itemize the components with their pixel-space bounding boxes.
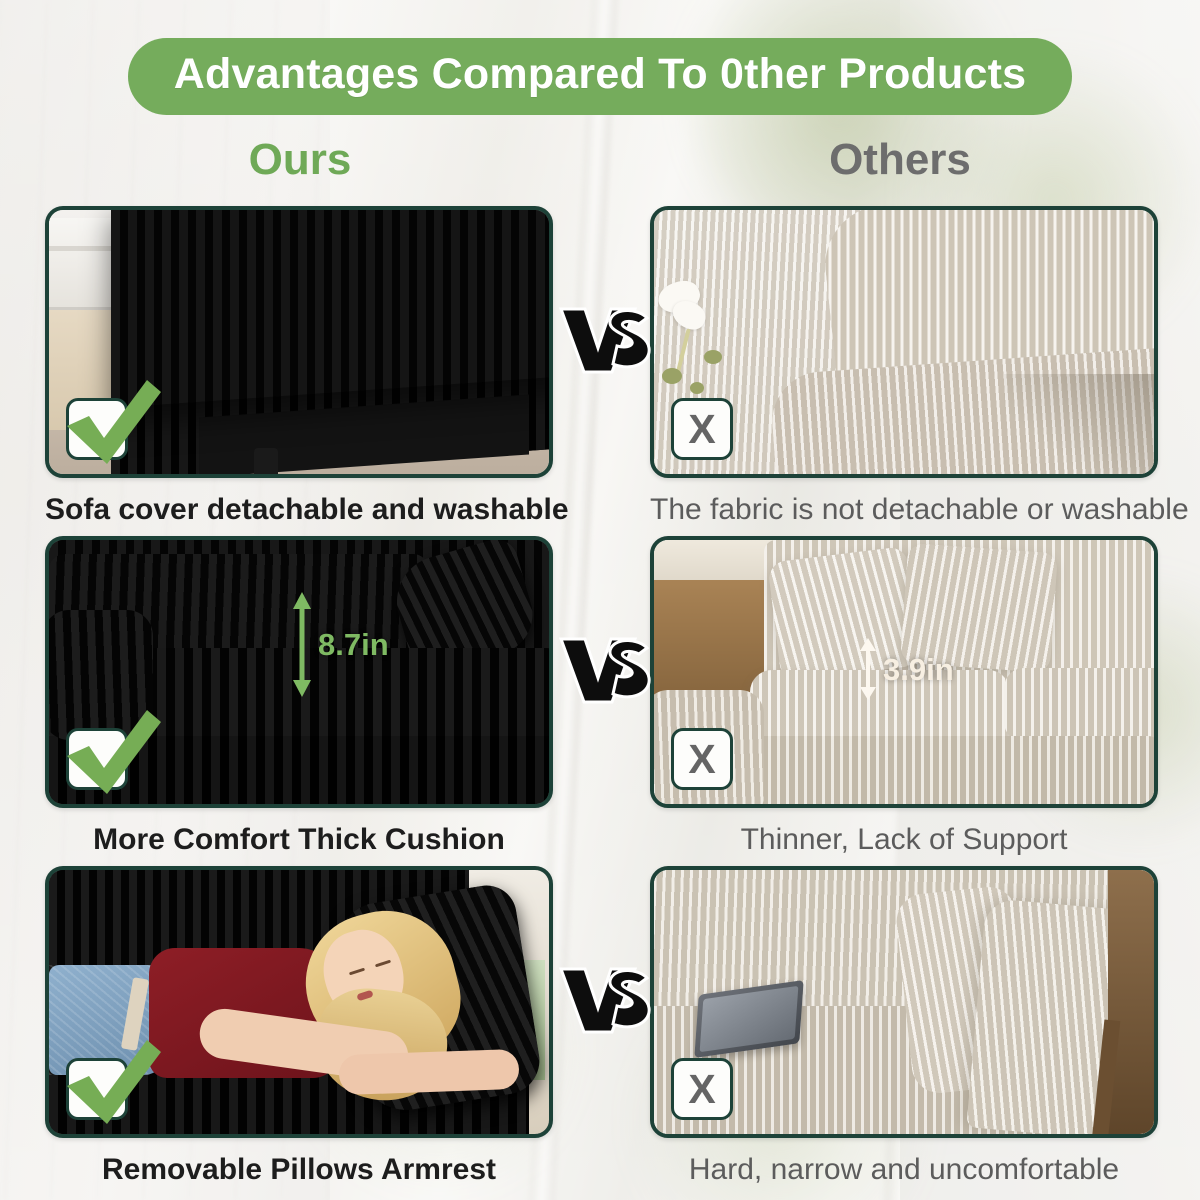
check-badge	[66, 728, 128, 790]
x-icon: X	[674, 401, 730, 457]
others-caption: The fabric is not detachable or washable	[650, 488, 1158, 532]
title-banner: Advantages Compared To 0ther Products	[0, 38, 1200, 115]
others-image-panel: X	[650, 866, 1158, 1138]
x-badge: X	[671, 728, 733, 790]
others-caption: Hard, narrow and uncomfortable	[650, 1148, 1158, 1192]
x-badge: X	[671, 1058, 733, 1120]
ours-image-panel	[45, 206, 553, 478]
others-measurement-value: 3.9in	[883, 654, 954, 685]
others-measurement: 3.9in	[859, 638, 954, 700]
ours-image-panel: 8.7in	[45, 536, 553, 808]
x-icon: X	[674, 1061, 730, 1117]
double-arrow-icon	[292, 592, 312, 697]
column-header-others: Others	[600, 138, 1200, 182]
column-headers: Ours Others	[0, 138, 1200, 200]
column-header-ours: Ours	[0, 138, 600, 182]
ours-measurement: 8.7in	[292, 592, 389, 697]
comparison-row: X Removable Pillows Armrest Hard, narrow…	[0, 866, 1200, 1196]
page-title: Advantages Compared To 0ther Products	[128, 38, 1072, 115]
ours-caption: Sofa cover detachable and washable	[45, 488, 553, 532]
ours-caption: Removable Pillows Armrest	[45, 1148, 553, 1192]
vs-icon	[555, 964, 653, 1036]
x-icon: X	[674, 731, 730, 787]
others-image-panel: X	[650, 206, 1158, 478]
check-badge	[66, 398, 128, 460]
vs-icon	[555, 634, 653, 706]
comparison-rows: X Sofa cover detachable and washable The…	[0, 206, 1200, 1196]
comparison-row: X Sofa cover detachable and washable The…	[0, 206, 1200, 536]
ours-image-panel	[45, 866, 553, 1138]
x-badge: X	[671, 398, 733, 460]
check-badge	[66, 1058, 128, 1120]
others-image-panel: 3.9in X	[650, 536, 1158, 808]
vs-icon	[555, 304, 653, 376]
ours-measurement-value: 8.7in	[318, 629, 389, 660]
comparison-row: 8.7in	[0, 536, 1200, 866]
double-arrow-icon	[859, 638, 877, 700]
ours-caption: More Comfort Thick Cushion	[45, 818, 553, 862]
others-caption: Thinner, Lack of Support	[650, 818, 1158, 862]
